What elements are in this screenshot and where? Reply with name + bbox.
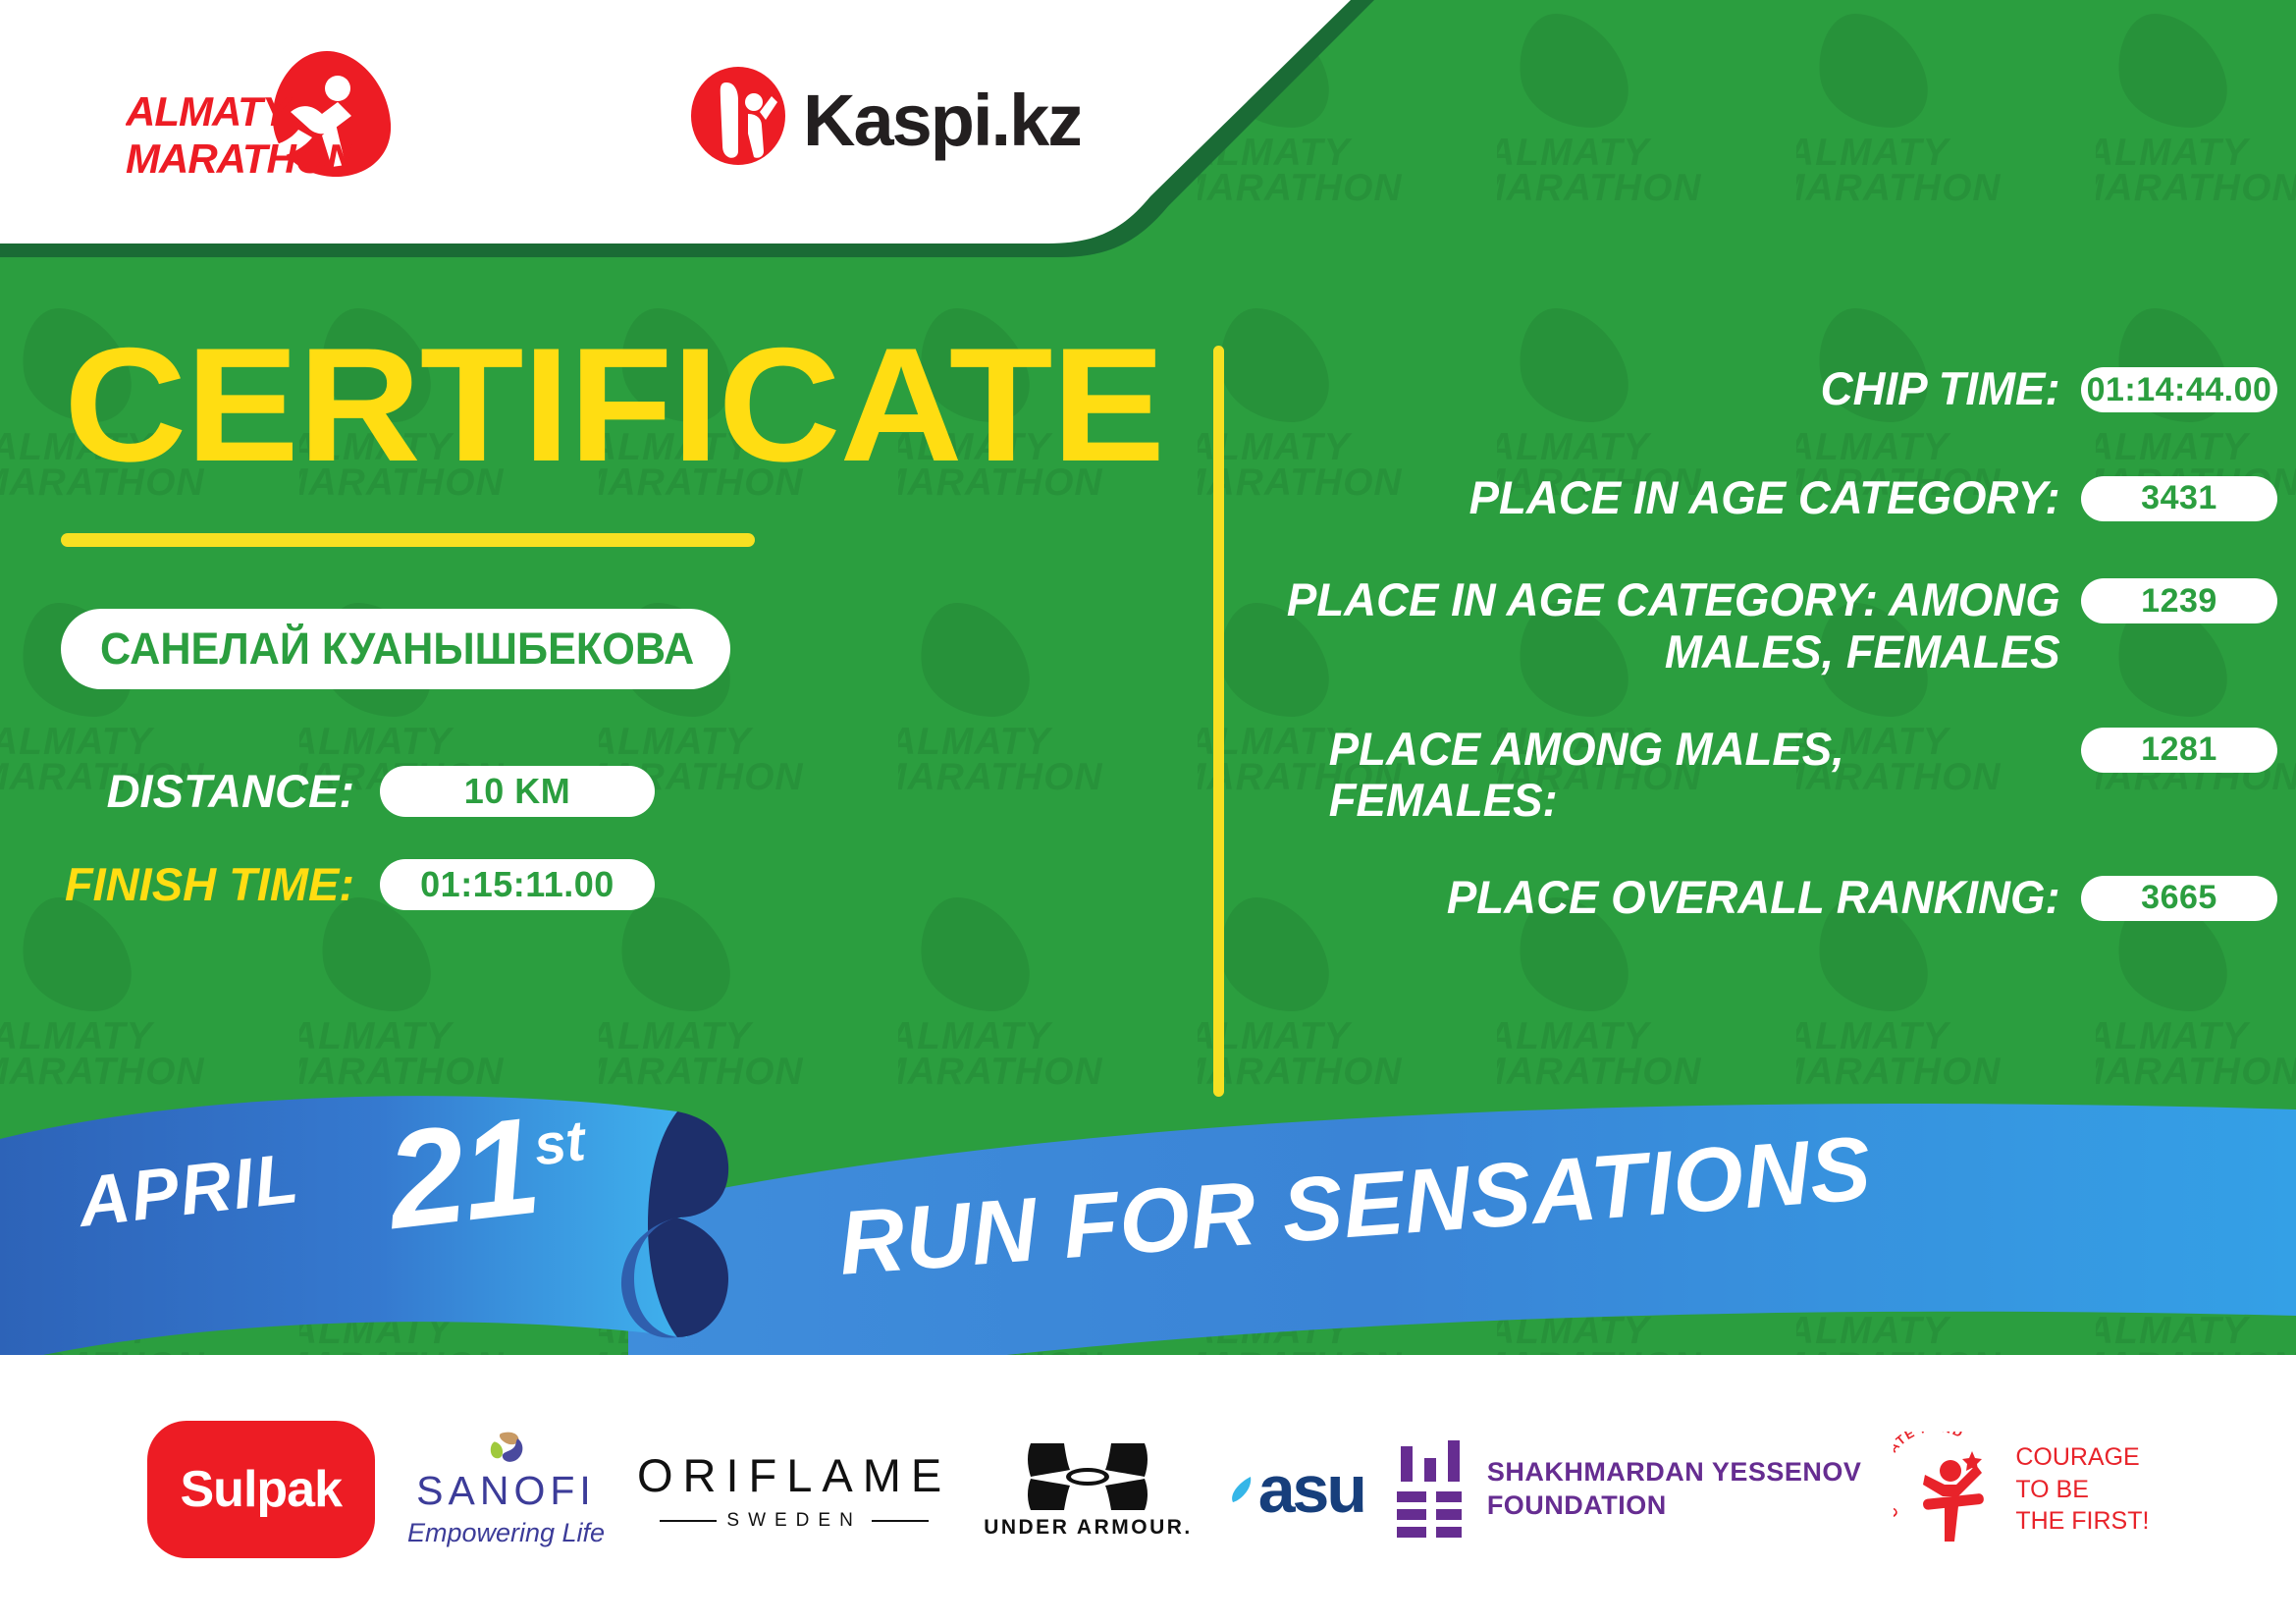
sponsor-courage-logo: CORPORATE FUND COURAGE TO BE THE FIRST!: [1894, 1431, 2149, 1548]
sponsor-courage-line2: TO BE: [2015, 1474, 2149, 1506]
rule-left: [660, 1520, 717, 1522]
title-underline: [61, 533, 755, 547]
sponsor-yessenov-text: SHAKHMARDAN YESSENOV FOUNDATION: [1487, 1456, 1862, 1523]
stat-row-chip-time: CHIP TIME: 01:14:44.00: [1247, 363, 2277, 415]
sponsor-list: Sulpak SANOFI Empowering Life ORIFLAME S…: [79, 1421, 2218, 1558]
sponsor-courage-line3: THE FIRST!: [2015, 1505, 2149, 1538]
place-among-gender-value: 1281: [2141, 731, 2217, 769]
place-overall-label: PLACE OVERALL RANKING:: [1272, 872, 2082, 924]
sponsor-sanofi-label: SANOFI: [416, 1468, 596, 1514]
place-among-gender-value-pill: 1281: [2081, 728, 2277, 773]
asu-droplet-icon: [1225, 1475, 1258, 1504]
finish-time-value: 01:15:11.00: [420, 864, 614, 905]
participant-name: САНЕЛАЙ КУАНЫШБЕКОВА: [100, 623, 694, 675]
sponsor-sulpak-logo: Sulpak: [147, 1421, 376, 1558]
sponsor-courage-text: COURAGE TO BE THE FIRST!: [2015, 1441, 2149, 1538]
right-column: CHIP TIME: 01:14:44.00 PLACE IN AGE CATE…: [1247, 363, 2277, 956]
stat-row-place-among-gender: PLACE AMONG MALES, FEMALES: 1281: [1247, 724, 2277, 827]
page-title: CERTIFICATE: [0, 324, 1216, 486]
sponsor-under-armour-logo: UNDER ARMOUR.: [984, 1431, 1193, 1548]
sponsor-oriflame-logo: ORIFLAME SWEDEN: [637, 1431, 951, 1548]
sponsor-footer: Sulpak SANOFI Empowering Life ORIFLAME S…: [0, 1355, 2296, 1624]
svg-text:ALMATY: ALMATY: [126, 88, 294, 135]
place-age-category-gender-value-pill: 1239: [2081, 578, 2277, 623]
distance-value-pill: 10 KM: [380, 766, 655, 817]
sponsor-oriflame-label: ORIFLAME: [637, 1448, 951, 1502]
finish-time-value-pill: 01:15:11.00: [380, 859, 655, 910]
rule-right: [872, 1520, 929, 1522]
place-age-category-gender-label: PLACE IN AGE CATEGORY: AMONG MALES, FEMA…: [1272, 574, 2082, 677]
sponsor-yessenov-logo: SHAKHMARDAN YESSENOV FOUNDATION: [1397, 1431, 1862, 1548]
sponsor-asu-logo: asu: [1225, 1431, 1364, 1548]
under-armour-mark-icon: [1025, 1439, 1150, 1510]
place-age-category-value-pill: 3431: [2081, 476, 2277, 521]
sponsor-sanofi-tagline: Empowering Life: [407, 1518, 605, 1548]
distance-label: DISTANCE:: [61, 764, 380, 818]
participant-name-pill: САНЕЛАЙ КУАНЫШБЕКОВА: [61, 609, 730, 689]
sponsor-asu-label: asu: [1258, 1451, 1364, 1528]
sponsor-oriflame-sub: SWEDEN: [660, 1510, 928, 1532]
ribbon-day-suffix: st: [531, 1109, 589, 1177]
certificate-canvas: ALMATY MARATHON ALMATY MARATHON: [0, 0, 2296, 1624]
vertical-divider: [1213, 346, 1224, 1097]
left-column: CERTIFICATE САНЕЛАЙ КУАНЫШБЕКОВА DISTANC…: [0, 324, 1158, 950]
chip-time-label: CHIP TIME:: [1272, 363, 2082, 415]
kaspi-logo: Kaspi.kz: [687, 61, 1080, 169]
ribbon-day-number: 21: [380, 1088, 546, 1258]
stat-row-finish-time: FINISH TIME: 01:15:11.00: [61, 857, 1158, 911]
courage-mark-icon: CORPORATE FUND: [1894, 1432, 2002, 1547]
place-age-category-gender-value: 1239: [2141, 582, 2217, 621]
sanofi-mark-icon: [460, 1431, 551, 1464]
ribbon-day: 21st: [380, 1080, 596, 1261]
sponsor-sulpak-label: Sulpak: [181, 1460, 343, 1519]
place-age-category-label: PLACE IN AGE CATEGORY:: [1272, 472, 2082, 524]
sponsor-oriflame-tagline: SWEDEN: [726, 1510, 861, 1532]
almaty-marathon-logo: ALMATY MARATHON: [126, 45, 440, 183]
finish-time-label: FINISH TIME:: [61, 857, 380, 911]
place-overall-value: 3665: [2141, 879, 2217, 917]
place-among-gender-label: PLACE AMONG MALES, FEMALES:: [1272, 724, 2082, 827]
sponsor-yessenov-line2: FOUNDATION: [1487, 1489, 1862, 1523]
stat-row-distance: DISTANCE: 10 KM: [61, 764, 1158, 818]
svg-text:MARATHON: MARATHON: [126, 135, 358, 182]
place-age-category-value: 3431: [2141, 479, 2217, 517]
sponsor-yessenov-line1: SHAKHMARDAN YESSENOV: [1487, 1456, 1862, 1489]
sponsor-courage-line1: COURAGE: [2015, 1441, 2149, 1474]
sponsor-sanofi-logo: SANOFI Empowering Life: [407, 1431, 605, 1548]
svg-text:Kaspi.kz: Kaspi.kz: [803, 80, 1080, 161]
chip-time-value: 01:14:44.00: [2087, 371, 2272, 409]
left-stats: DISTANCE: 10 KM FINISH TIME: 01:15:11.00: [0, 764, 1158, 911]
place-overall-value-pill: 3665: [2081, 876, 2277, 921]
stat-row-place-overall: PLACE OVERALL RANKING: 3665: [1247, 872, 2277, 924]
distance-value: 10 KM: [464, 771, 571, 812]
chip-time-value-pill: 01:14:44.00: [2081, 367, 2277, 412]
stat-row-place-age-category: PLACE IN AGE CATEGORY: 3431: [1247, 472, 2277, 524]
sponsor-under-armour-label: UNDER ARMOUR.: [984, 1516, 1193, 1540]
yessenov-mark-icon: [1397, 1440, 1466, 1539]
stat-row-place-age-category-gender: PLACE IN AGE CATEGORY: AMONG MALES, FEMA…: [1247, 574, 2277, 677]
